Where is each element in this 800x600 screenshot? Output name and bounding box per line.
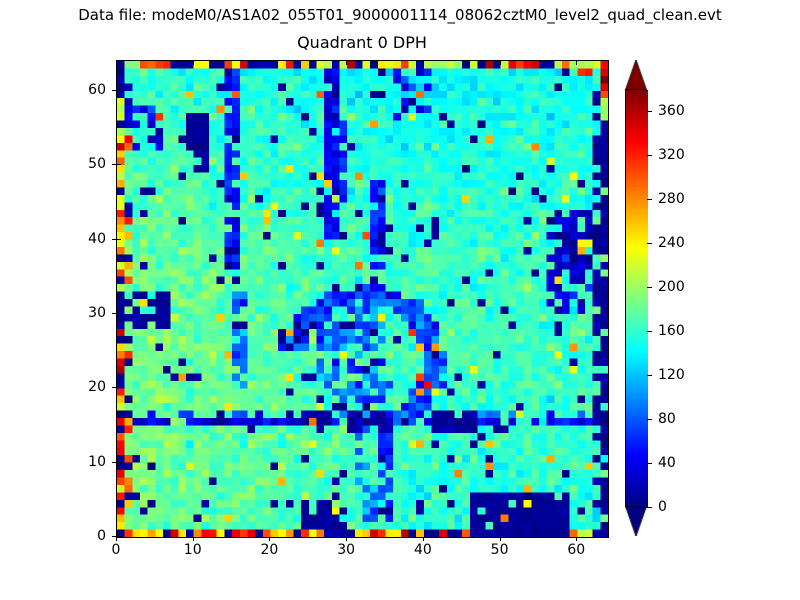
x-tick-mark bbox=[269, 537, 270, 541]
colorbar-tick-mark bbox=[647, 111, 652, 112]
colorbar-tick-mark bbox=[647, 243, 652, 244]
colorbar-tick-label: 320 bbox=[658, 147, 685, 163]
colorbar-gradient bbox=[626, 90, 648, 508]
colorbar-tick-mark bbox=[647, 287, 652, 288]
y-tick-label: 0 bbox=[66, 528, 106, 544]
x-tick-label: 50 bbox=[491, 542, 509, 558]
colorbar-tick-mark bbox=[647, 419, 652, 420]
colorbar-tick-label: 240 bbox=[658, 235, 685, 251]
colorbar-tick-mark bbox=[647, 199, 652, 200]
x-tick-label: 20 bbox=[261, 542, 279, 558]
y-tick-mark-inner bbox=[117, 239, 121, 240]
colorbar-tick-label: 80 bbox=[658, 411, 676, 427]
colorbar-tick-label: 0 bbox=[658, 499, 667, 515]
x-tick-label: 40 bbox=[414, 542, 432, 558]
colorbar-tick-label: 360 bbox=[658, 103, 685, 119]
x-tick-mark bbox=[116, 537, 117, 541]
heatmap-image[interactable] bbox=[117, 61, 608, 537]
y-tick-mark-inner bbox=[117, 164, 121, 165]
colorbar-tick-mark bbox=[647, 507, 652, 508]
x-tick-mark-inner bbox=[346, 61, 347, 65]
x-tick-label: 0 bbox=[112, 542, 121, 558]
x-tick-label: 60 bbox=[567, 542, 585, 558]
y-tick-mark-inner bbox=[117, 462, 121, 463]
y-tick-mark-inner bbox=[117, 90, 121, 91]
colorbar-tick-mark bbox=[647, 463, 652, 464]
y-tick-mark bbox=[112, 313, 116, 314]
colorbar-body[interactable] bbox=[625, 89, 647, 507]
y-tick-mark bbox=[112, 239, 116, 240]
y-tick-mark bbox=[112, 462, 116, 463]
colorbar-tick-label: 200 bbox=[658, 279, 685, 295]
figure-canvas: Data file: modeM0/AS1A02_055T01_90000011… bbox=[0, 0, 800, 600]
y-tick-label: 20 bbox=[66, 379, 106, 395]
colorbar-over-arrow bbox=[625, 60, 647, 90]
page-title: Quadrant 0 DPH bbox=[116, 33, 608, 52]
colorbar-tick-mark bbox=[647, 375, 652, 376]
y-tick-label: 40 bbox=[66, 231, 106, 247]
y-tick-mark-inner bbox=[117, 536, 121, 537]
y-tick-mark bbox=[112, 536, 116, 537]
colorbar-tick-label: 40 bbox=[658, 455, 676, 471]
heatmap-axes[interactable] bbox=[116, 60, 609, 538]
x-tick-mark bbox=[346, 537, 347, 541]
colorbar[interactable]: 04080120160200240280320360 bbox=[625, 60, 647, 536]
x-tick-label: 10 bbox=[184, 542, 202, 558]
colorbar-tick-label: 120 bbox=[658, 367, 685, 383]
figure-suptitle: Data file: modeM0/AS1A02_055T01_90000011… bbox=[0, 6, 800, 24]
y-tick-label: 60 bbox=[66, 82, 106, 98]
y-tick-mark-inner bbox=[117, 387, 121, 388]
x-tick-mark-inner bbox=[269, 61, 270, 65]
y-tick-label: 30 bbox=[66, 305, 106, 321]
x-tick-mark bbox=[500, 537, 501, 541]
colorbar-under-arrow bbox=[625, 506, 647, 536]
colorbar-tick-label: 160 bbox=[658, 323, 685, 339]
y-tick-mark-inner bbox=[117, 313, 121, 314]
y-tick-label: 10 bbox=[66, 454, 106, 470]
x-tick-mark bbox=[576, 537, 577, 541]
x-tick-mark-inner bbox=[576, 61, 577, 65]
y-tick-label: 50 bbox=[66, 156, 106, 172]
colorbar-tick-mark bbox=[647, 331, 652, 332]
colorbar-tick-mark bbox=[647, 155, 652, 156]
x-tick-mark-inner bbox=[500, 61, 501, 65]
colorbar-tick-label: 280 bbox=[658, 191, 685, 207]
x-tick-mark-inner bbox=[423, 61, 424, 65]
x-tick-label: 30 bbox=[337, 542, 355, 558]
x-tick-mark bbox=[193, 537, 194, 541]
x-tick-mark-inner bbox=[116, 61, 117, 65]
x-tick-mark bbox=[423, 537, 424, 541]
x-tick-mark-inner bbox=[193, 61, 194, 65]
y-tick-mark bbox=[112, 164, 116, 165]
y-tick-mark bbox=[112, 90, 116, 91]
y-tick-mark bbox=[112, 387, 116, 388]
